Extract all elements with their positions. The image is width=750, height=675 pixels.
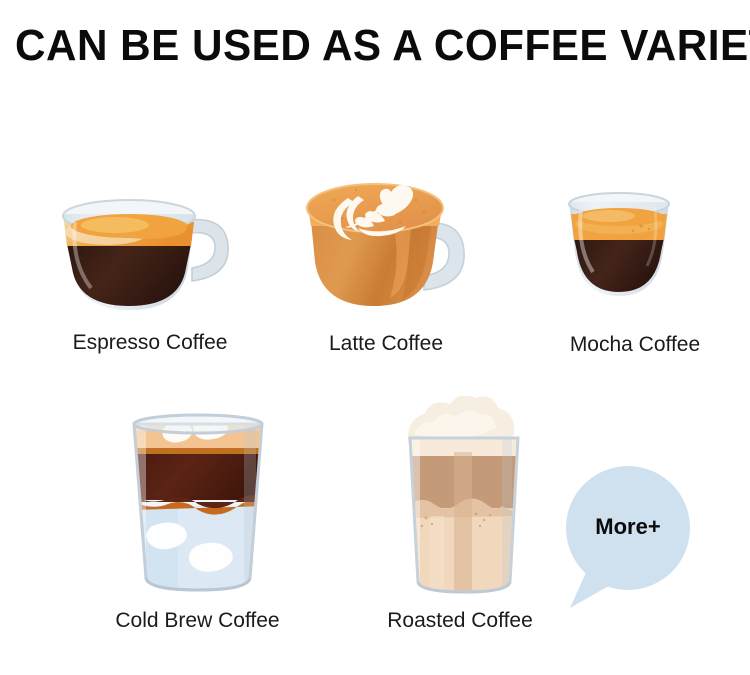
coffee-item-latte[interactable]: Latte Coffee [296, 166, 476, 366]
latte-cup-icon [296, 166, 476, 326]
coffee-label-roasted: Roasted Coffee [362, 608, 558, 634]
coffee-label-latte: Latte Coffee [286, 331, 486, 357]
coffee-item-coldbrew[interactable]: Cold Brew Coffee [100, 410, 295, 645]
cold-brew-glass-icon [100, 410, 295, 605]
coffee-item-roasted[interactable]: Roasted Coffee [370, 396, 550, 644]
coffee-item-mocha[interactable]: Mocha Coffee [545, 190, 725, 370]
roasted-glass-icon [370, 396, 550, 606]
mocha-glass-icon [545, 190, 725, 330]
more-button[interactable]: More+ [560, 462, 710, 612]
coffee-label-espresso: Espresso Coffee [45, 330, 255, 356]
page-title: CAN BE USED AS A COFFEE VARIETY [15, 20, 735, 72]
coffee-item-espresso[interactable]: Espresso Coffee [45, 182, 255, 367]
poster-root: CAN BE USED AS A COFFEE VARIETY [0, 0, 750, 675]
coffee-label-mocha: Mocha Coffee [540, 332, 730, 358]
espresso-cup-icon [45, 182, 255, 332]
speech-bubble-icon [560, 462, 710, 612]
coffee-label-coldbrew: Cold Brew Coffee [95, 608, 300, 634]
